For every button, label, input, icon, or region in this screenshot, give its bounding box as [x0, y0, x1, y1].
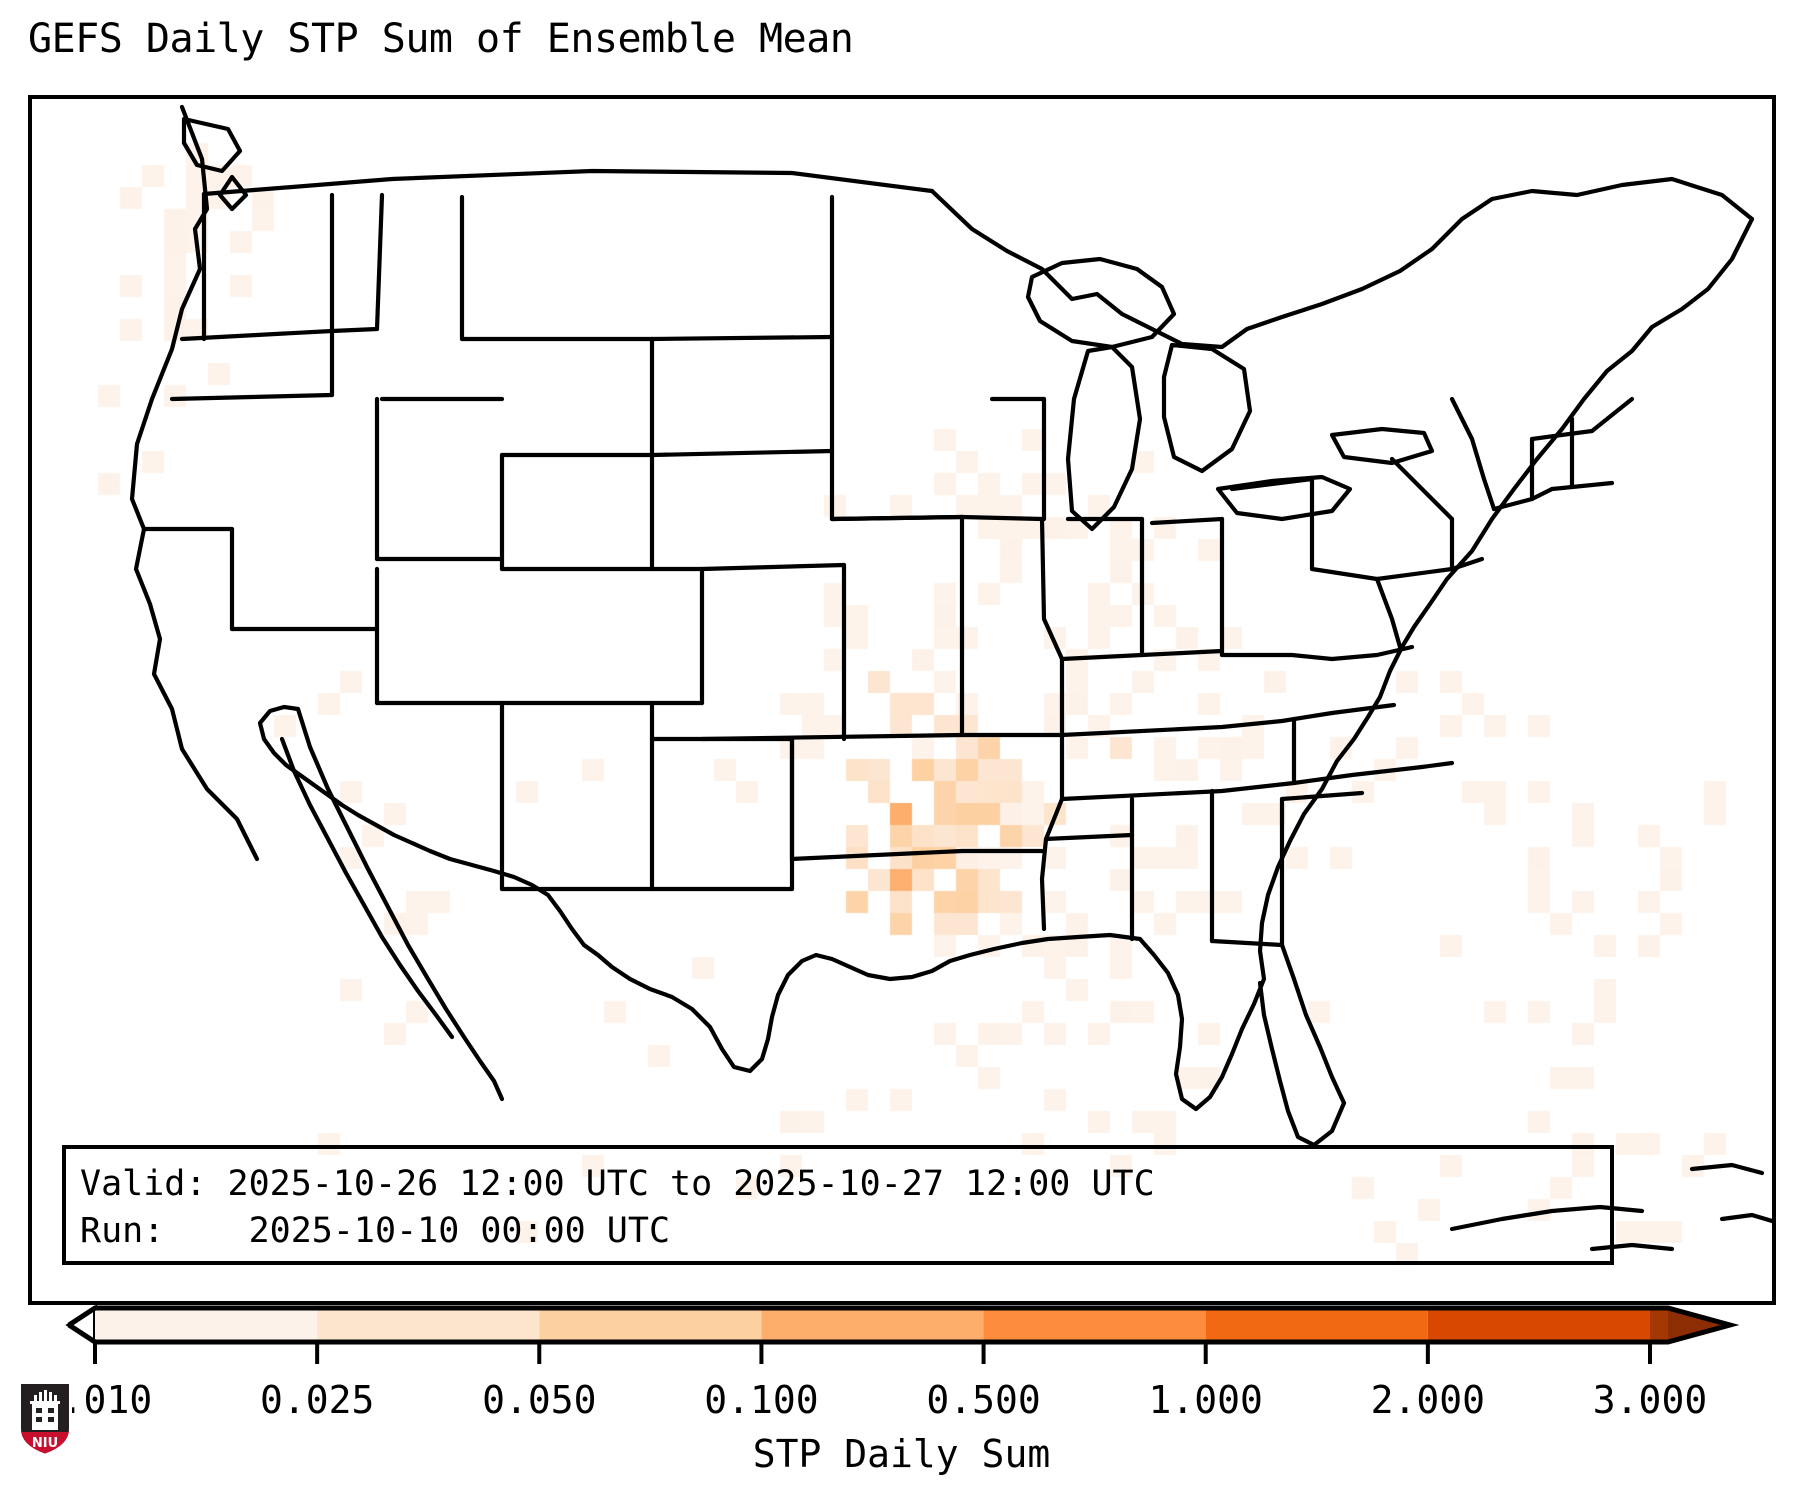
colorbar-tick-labels: 0.0100.0250.0500.1000.5001.0002.0003.000 [0, 1378, 1803, 1424]
geo-boundary-path [832, 517, 962, 519]
geo-boundary-path [702, 735, 962, 739]
colorbar-band [539, 1308, 761, 1342]
geo-boundary-path [1152, 519, 1222, 523]
forecast-info-box: Valid: 2025-10-26 12:00 UTC to 2025-10-2… [62, 1145, 1614, 1265]
colorbar-tick-label: 2.000 [1371, 1378, 1485, 1422]
geo-boundary-path [144, 529, 232, 629]
geo-boundary-path [1282, 945, 1344, 1103]
geo-boundary-path [1142, 651, 1222, 655]
colorbar-tick-label: 0.100 [704, 1378, 818, 1422]
valid-time-text: Valid: 2025-10-26 12:00 UTC to 2025-10-2… [80, 1167, 1155, 1202]
geo-boundary-path [1282, 793, 1362, 799]
colorbar-tick-label: 3.000 [1593, 1378, 1707, 1422]
geo-boundary-path [1332, 705, 1394, 713]
geo-boundary-path [1352, 763, 1452, 775]
geo-boundary-path [1028, 259, 1174, 347]
colorbar-area: 0.0100.0250.0500.1000.5001.0002.0003.000… [0, 1300, 1803, 1500]
colorbar-tick-label: 1.000 [1149, 1378, 1263, 1422]
geo-boundary-path [1042, 519, 1062, 929]
geo-boundary-path [184, 119, 240, 171]
colorbar-tick-label: 0.025 [260, 1378, 374, 1422]
geo-boundary-path [1046, 835, 1132, 839]
colorbar-band [1206, 1308, 1428, 1342]
geo-boundary-path [702, 565, 844, 569]
geo-boundary-path [1452, 399, 1494, 509]
colorbar-tick-marks [95, 1342, 1650, 1364]
geo-boundary-path [1377, 579, 1400, 647]
geo-boundary-path [1212, 941, 1282, 945]
geo-boundary-path [172, 395, 332, 399]
state-and-coastline-paths [132, 107, 1772, 1249]
geo-boundary-path [1377, 559, 1482, 579]
colorbar-band [761, 1308, 983, 1342]
colorbar-swatch-strip [0, 1300, 1803, 1370]
geo-boundary-path [1164, 345, 1250, 471]
geo-boundary-path [1140, 219, 1752, 1109]
geo-boundary-path [652, 337, 832, 339]
geo-boundary-path [282, 739, 452, 1037]
geo-boundary-path [1068, 347, 1140, 529]
colorbar-band [1428, 1308, 1650, 1342]
geo-boundary-path [962, 517, 1042, 519]
geo-boundary-path [932, 179, 1752, 347]
geo-boundary-path [1222, 655, 1332, 659]
geo-boundary-path [132, 107, 257, 859]
geo-boundary-path [1062, 655, 1142, 659]
geo-boundary-path [502, 455, 652, 569]
geo-boundary-path [1392, 459, 1452, 519]
geo-boundary-path [1312, 569, 1377, 579]
map-plot-area [28, 95, 1776, 1305]
geo-boundary-path [792, 851, 962, 859]
geo-boundary-path [1494, 489, 1552, 509]
niu-logo: NIU [14, 1378, 76, 1460]
colorbar-band [1650, 1308, 1668, 1342]
geo-boundary-path [1062, 713, 1332, 735]
geo-boundary-path [652, 451, 832, 455]
niu-wordmark: NIU [32, 1436, 58, 1451]
colorbar-axis-label: STP Daily Sum [0, 1432, 1803, 1476]
geo-boundary-path [332, 195, 382, 331]
geo-boundary-path [1722, 1215, 1772, 1221]
run-time-text: Run: 2025-10-10 00:00 UTC [80, 1214, 670, 1249]
page-title: GEFS Daily STP Sum of Ensemble Mean [28, 16, 853, 62]
geo-boundary-path [204, 171, 932, 194]
niu-castle-icon [30, 1390, 60, 1430]
colorbar-band [984, 1308, 1206, 1342]
geo-boundary-path [1552, 483, 1612, 489]
colorbar-bands [69, 1308, 1730, 1342]
colorbar-tick-label: 0.050 [482, 1378, 596, 1422]
geo-boundary-path [584, 935, 1140, 1071]
basemap-borders-layer [32, 99, 1772, 1301]
colorbar-band [95, 1308, 317, 1342]
geo-boundary-path [1592, 399, 1632, 431]
colorbar-band [317, 1308, 539, 1342]
map-canvas-wrap [32, 99, 1772, 1301]
geo-boundary-path [1332, 429, 1432, 463]
geo-boundary-path [298, 709, 502, 1099]
geo-boundary-path [1692, 1165, 1762, 1173]
colorbar-tick-label: 0.500 [926, 1378, 1040, 1422]
